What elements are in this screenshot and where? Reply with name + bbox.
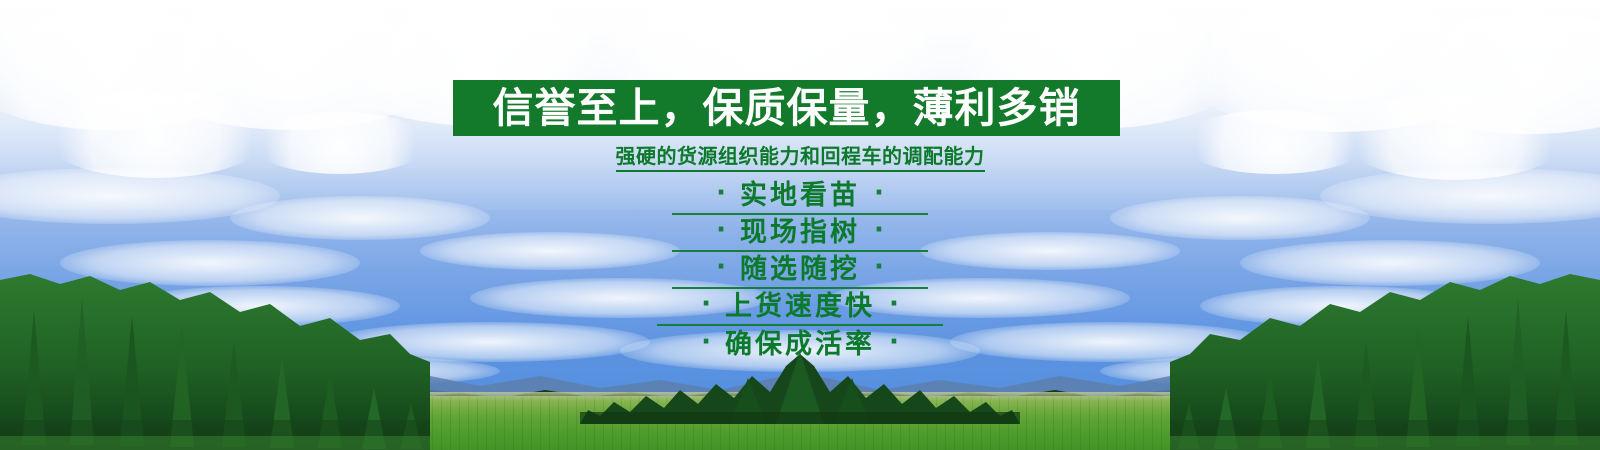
bullet-dot-left-icon: · — [716, 217, 726, 243]
subtitle-wrapper: 强硬的货源组织能力和回程车的调配能力 — [0, 144, 1600, 172]
feature-label: 现场指树 — [740, 219, 860, 246]
bullet-dot-right-icon: · — [874, 254, 884, 280]
feature-row: · 确保成活率 · — [0, 328, 1600, 365]
feature-label: 上货速度快 — [725, 293, 875, 320]
bullet-dot-left-icon: · — [701, 329, 711, 355]
headline-text: 信誉至上，保质保量，薄利多销 — [493, 88, 1081, 129]
feature-row: · 实地看苗 · — [0, 180, 1600, 217]
bullet-dot-right-icon: · — [874, 180, 884, 206]
banner-content: 信誉至上，保质保量，薄利多销 强硬的货源组织能力和回程车的调配能力 · 实地看苗… — [0, 0, 1600, 450]
bullet-dot-left-icon: · — [716, 254, 726, 280]
promo-banner: 信誉至上，保质保量，薄利多销 强硬的货源组织能力和回程车的调配能力 · 实地看苗… — [0, 0, 1600, 450]
feature-row: · 现场指树 · — [0, 217, 1600, 254]
feature-row: · 上货速度快 · — [0, 291, 1600, 328]
bullet-dot-right-icon: · — [889, 329, 899, 355]
feature-list: · 实地看苗 · · 现场指树 · · 随选随挖 · — [0, 180, 1600, 365]
feature-label: 实地看苗 — [740, 182, 860, 209]
bullet-dot-left-icon: · — [716, 180, 726, 206]
bullet-dot-right-icon: · — [889, 291, 899, 317]
feature-label: 随选随挖 — [740, 256, 860, 283]
feature-row: · 随选随挖 · — [0, 254, 1600, 291]
bullet-dot-left-icon: · — [701, 291, 711, 317]
feature-label: 确保成活率 — [725, 331, 875, 358]
headline-banner: 信誉至上，保质保量，薄利多销 — [453, 80, 1120, 136]
bullet-dot-right-icon: · — [874, 217, 884, 243]
subtitle-text: 强硬的货源组织能力和回程车的调配能力 — [616, 144, 985, 172]
